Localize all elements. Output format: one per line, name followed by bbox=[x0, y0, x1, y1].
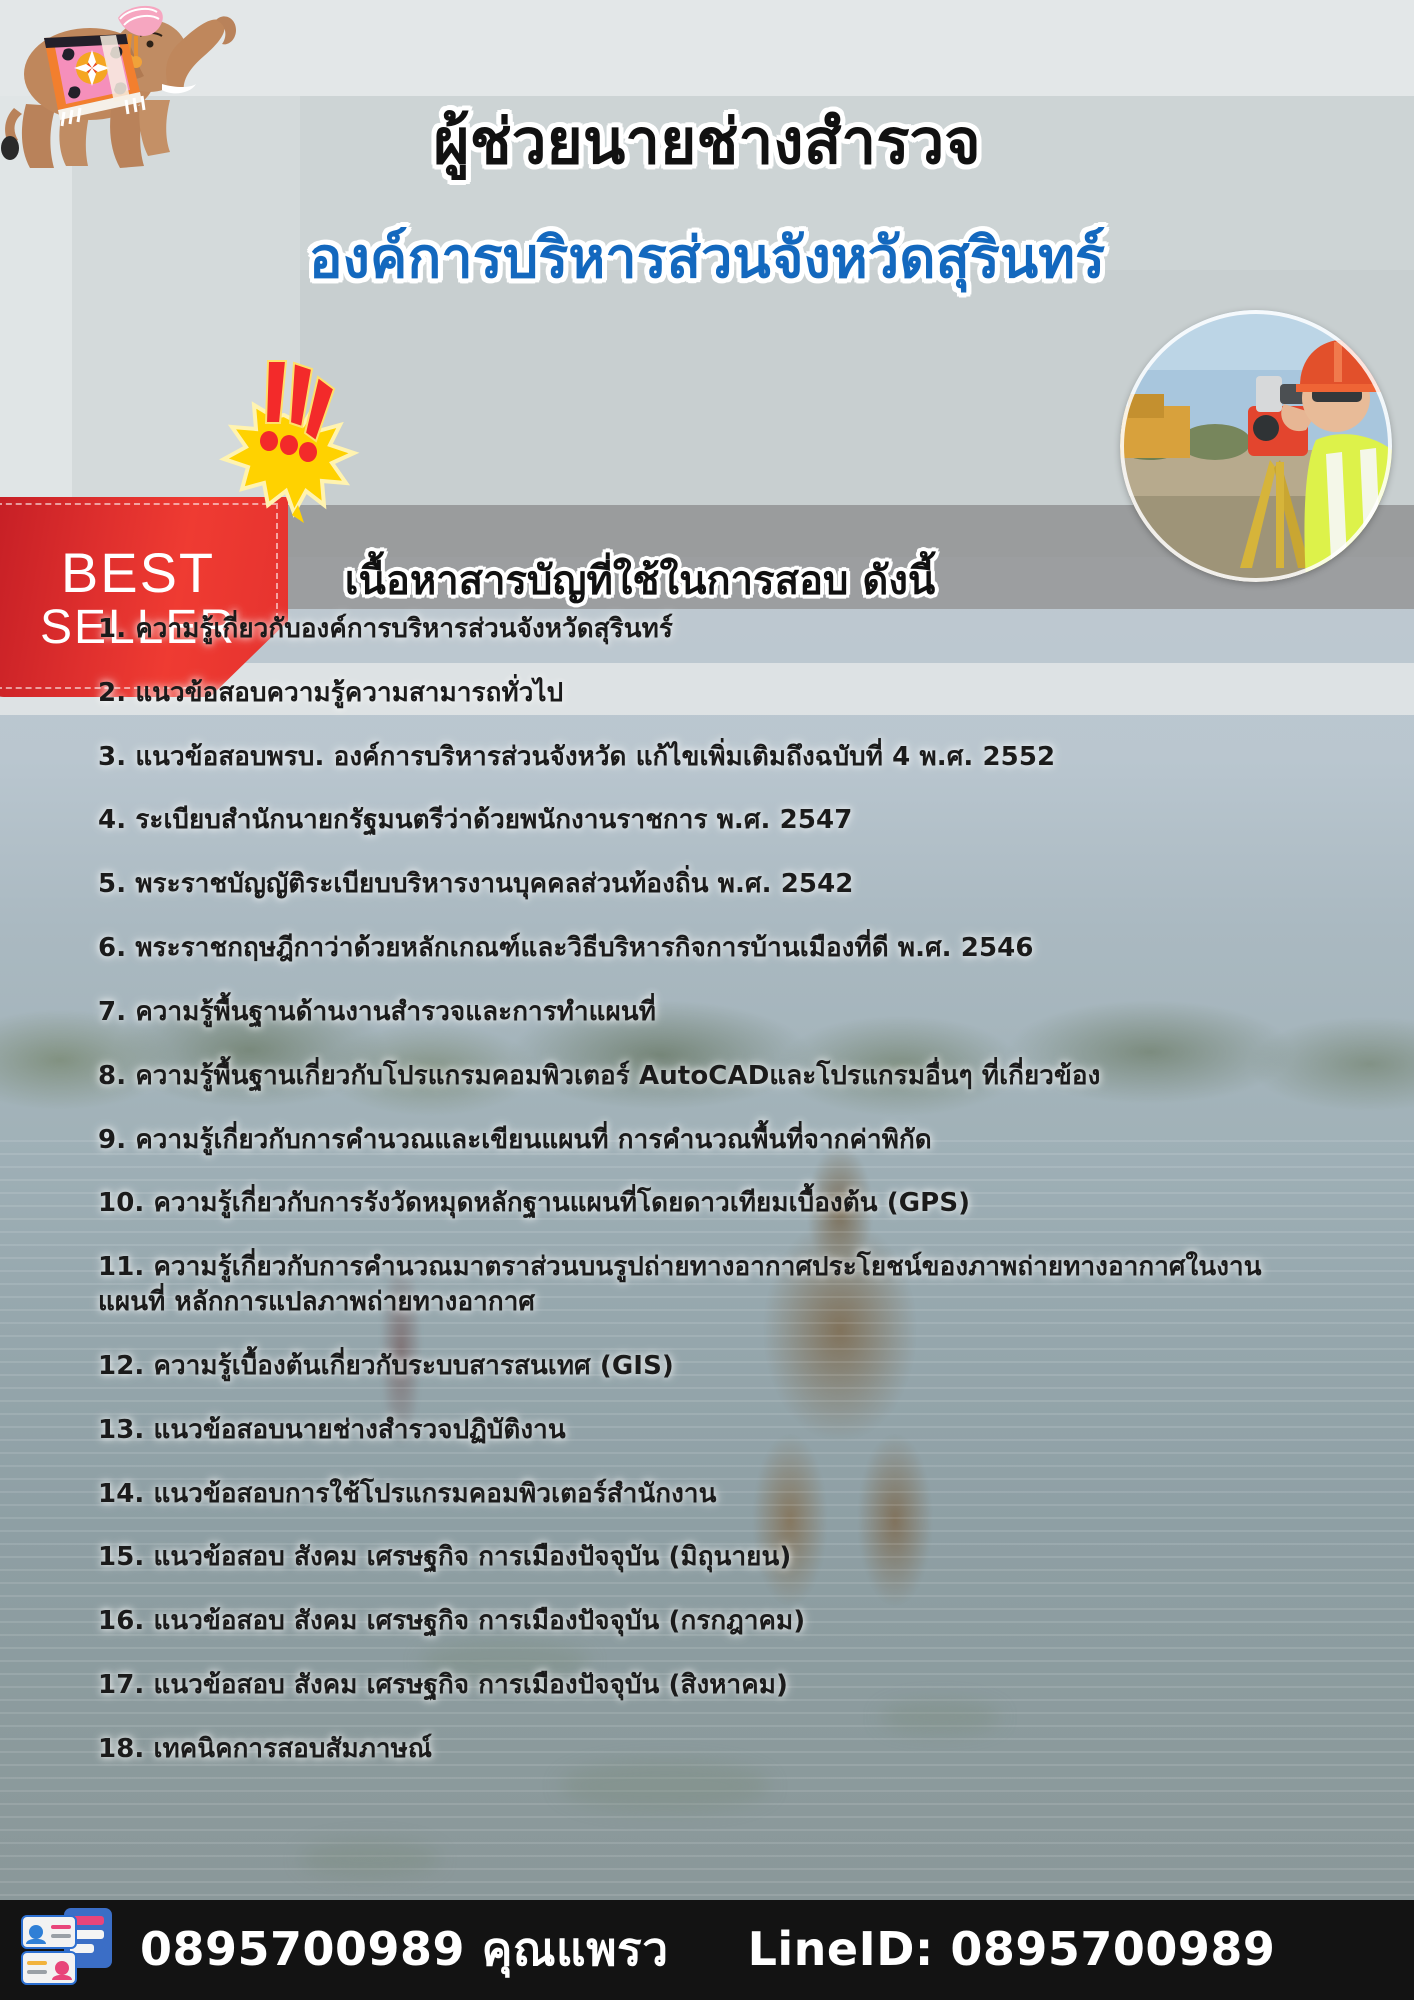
list-item: 16. แนวข้อสอบ สังคม เศรษฐกิจ การเมืองปัจ… bbox=[98, 1604, 1328, 1639]
list-item: 2. แนวข้อสอบความรู้ความสามารถทั่วไป bbox=[98, 676, 1328, 711]
list-item: 15. แนวข้อสอบ สังคม เศรษฐกิจ การเมืองปัจ… bbox=[98, 1540, 1328, 1575]
list-item: 1. ความรู้เกี่ยวกับองค์การบริหารส่วนจังห… bbox=[98, 612, 1328, 647]
list-item: 7. ความรู้พื้นฐานด้านงานสำรวจและการทำแผน… bbox=[98, 995, 1328, 1030]
list-item: 6. พระราชกฤษฎีกาว่าด้วยหลักเกณฑ์และวิธีบ… bbox=[98, 931, 1328, 966]
contact-icons bbox=[18, 1906, 130, 1992]
contents-list: 1. ความรู้เกี่ยวกับองค์การบริหารส่วนจังห… bbox=[98, 612, 1328, 1796]
list-item: 5. พระราชบัญญัติระเบียบบริหารงานบุคคลส่ว… bbox=[98, 867, 1328, 902]
best-seller-line1: BEST bbox=[0, 540, 276, 605]
footer-contact-name: คุณแพรว bbox=[482, 1922, 669, 1976]
water-lilypad bbox=[300, 1840, 440, 1878]
page-title: ผู้ช่วยนายช่างสำรวจ bbox=[0, 108, 1414, 176]
list-item: 13. แนวข้อสอบนายช่างสำรวจปฏิบัติงาน bbox=[98, 1413, 1328, 1448]
footer-phone: 0895700989 bbox=[140, 1922, 465, 1976]
poster-page: ผู้ช่วยนายช่างสำรวจ องค์การบริหารส่วนจัง… bbox=[0, 0, 1414, 2000]
exclamation-burst-icon bbox=[206, 355, 366, 525]
list-item: 9. ความรู้เกี่ยวกับการคำนวณและเขียนแผนที… bbox=[98, 1123, 1328, 1158]
list-item: 18. เทคนิคการสอบสัมภาษณ์ bbox=[98, 1732, 1328, 1767]
list-item: 10. ความรู้เกี่ยวกับการรังวัดหมุดหลักฐาน… bbox=[98, 1186, 1328, 1221]
list-item: 4. ระเบียบสำนักนายกรัฐมนตรีว่าด้วยพนักงา… bbox=[98, 803, 1328, 838]
list-item: 3. แนวข้อสอบพรบ. องค์การบริหารส่วนจังหวั… bbox=[98, 740, 1328, 775]
list-item: 12. ความรู้เบื้องต้นเกี่ยวกับระบบสารสนเท… bbox=[98, 1349, 1328, 1384]
surveyor-photo bbox=[1120, 310, 1392, 582]
list-item: 17. แนวข้อสอบ สังคม เศรษฐกิจ การเมืองปัจ… bbox=[98, 1668, 1328, 1703]
list-item: 11. ความรู้เกี่ยวกับการคำนวณมาตราส่วนบนร… bbox=[98, 1250, 1328, 1320]
footer-line-id: 0895700989 bbox=[950, 1922, 1275, 1976]
list-item: 14. แนวข้อสอบการใช้โปรแกรมคอมพิวเตอร์สำน… bbox=[98, 1477, 1328, 1512]
list-item: 8. ความรู้พื้นฐานเกี่ยวกับโปรแกรมคอมพิวเ… bbox=[98, 1059, 1328, 1094]
footer-line-label: LineID: bbox=[748, 1922, 934, 1976]
content-banner-label: เนื้อหาสารบัญที่ใช้ในการสอบ ดังนี้ bbox=[260, 548, 1020, 612]
page-subtitle: องค์การบริหารส่วนจังหวัดสุรินทร์ bbox=[0, 228, 1414, 290]
footer-contact-text: 0895700989 คุณแพรว LineID: 0895700989 bbox=[140, 1913, 1400, 1986]
